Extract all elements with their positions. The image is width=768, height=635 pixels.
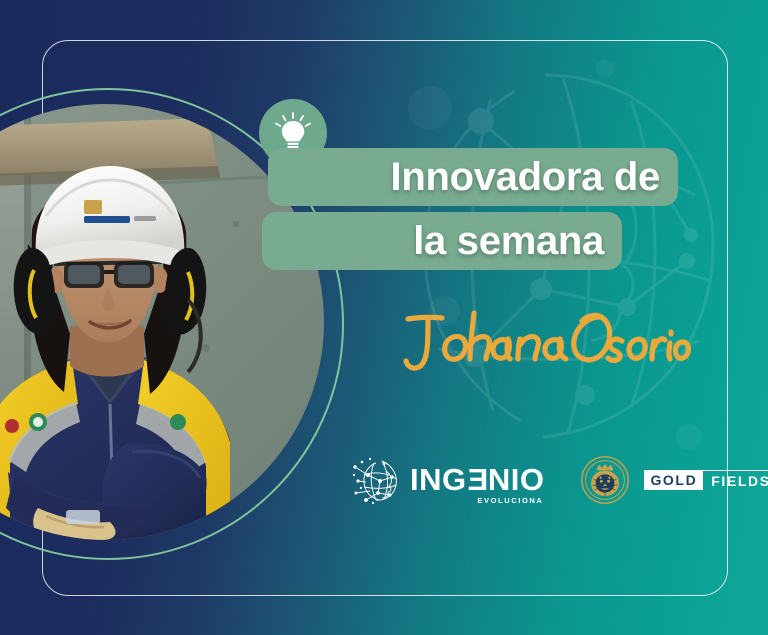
logo-strip: ING E NIO EVOLUCIONA [352, 455, 768, 505]
lion-crest-icon [580, 455, 630, 505]
title-banner-line1: Innovadora de [268, 148, 678, 206]
ingenio-logo: ING E NIO EVOLUCIONA [352, 455, 544, 505]
goldfields-wordmark: GOLD FIELDS [644, 470, 768, 490]
ingenio-tagline: EVOLUCIONA [477, 496, 543, 505]
honoree-name: Johana Osorio [390, 305, 680, 375]
title-line2: la semana [413, 221, 604, 261]
title-banner-line2: la semana [262, 212, 622, 270]
decorative-blob [596, 60, 614, 78]
ingenio-word-tail: NIO [488, 465, 545, 494]
goldfields-word-gold: GOLD [644, 470, 703, 490]
network-head-icon [352, 455, 404, 505]
decorative-blob [408, 86, 452, 130]
poster-canvas: Innovadora de la semana [0, 0, 768, 635]
ingenio-reversed-e: E [467, 465, 488, 494]
title-line1: Innovadora de [391, 157, 660, 197]
ingenio-word-head: ING [410, 465, 467, 494]
decorative-blob [676, 424, 702, 450]
goldfields-word-fields: FIELDS [703, 470, 768, 490]
goldfields-logo: GOLD FIELDS [580, 455, 768, 505]
ingenio-wordmark: ING E NIO [410, 465, 544, 494]
